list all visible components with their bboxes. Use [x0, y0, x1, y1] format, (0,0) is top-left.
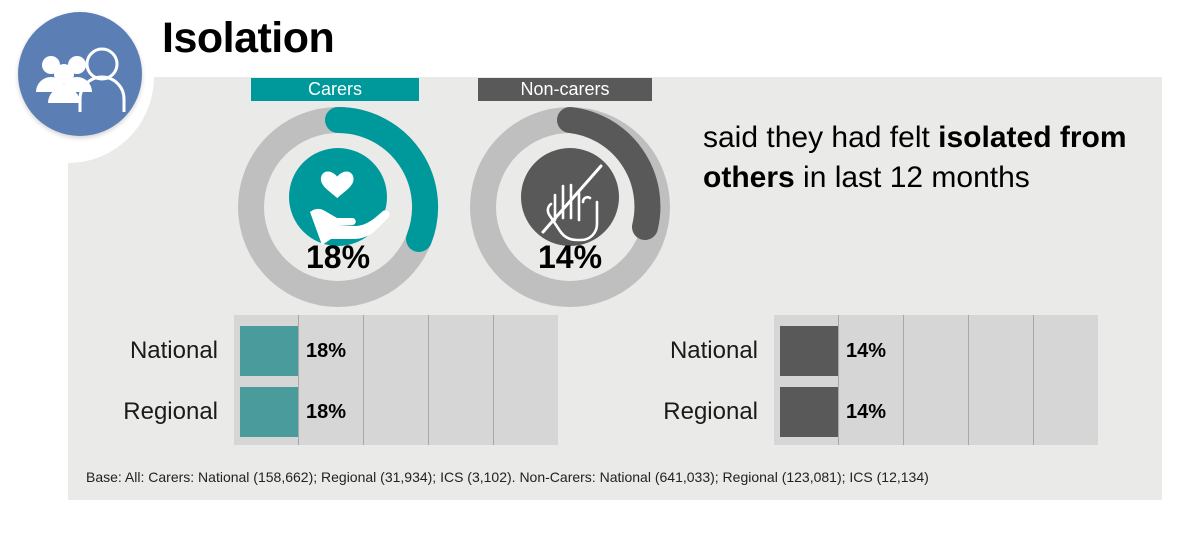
category-labels-carers: National Regional [108, 315, 226, 445]
gridline [903, 315, 904, 445]
category-label-regional: Regional [640, 398, 758, 426]
bar-value-national: 18% [306, 340, 346, 363]
plot-area-noncarers: 14% 14% [774, 315, 1098, 445]
people-group-icon [18, 12, 142, 136]
bar-value-regional: 18% [306, 401, 346, 424]
category-label-regional: Regional [100, 398, 218, 426]
gridline [838, 315, 839, 445]
statement-trail: in last 12 months [795, 161, 1030, 194]
gridline [363, 315, 364, 445]
donut-value-noncarers: 14% [460, 239, 680, 276]
base-footnote: Base: All: Carers: National (158,662); R… [86, 469, 929, 485]
bar-national [780, 326, 838, 376]
donut-chart-carers [228, 100, 448, 320]
bar-national [240, 326, 298, 376]
category-labels-noncarers: National Regional [648, 315, 766, 445]
group-label-noncarers: Non-carers [478, 78, 652, 101]
bar-value-national: 14% [846, 340, 886, 363]
gridline [493, 315, 494, 445]
gridline [968, 315, 969, 445]
bar-regional [240, 387, 298, 437]
bar-value-regional: 14% [846, 401, 886, 424]
bar-regional [780, 387, 838, 437]
category-label-national: National [640, 337, 758, 365]
gridline [428, 315, 429, 445]
statement-lead: said they had felt [703, 121, 938, 154]
gridline [1033, 315, 1034, 445]
gridline [298, 315, 299, 445]
page-title: Isolation [162, 14, 334, 63]
bar-chart-carers: National Regional 18% 18% [108, 315, 558, 445]
donut-chart-noncarers [460, 100, 680, 320]
statement-text: said they had felt isolated from others … [703, 118, 1133, 198]
bar-chart-noncarers: National Regional 14% 14% [648, 315, 1098, 445]
plot-area-carers: 18% 18% [234, 315, 558, 445]
group-label-carers: Carers [251, 78, 419, 101]
donut-value-carers: 18% [228, 239, 448, 276]
category-label-national: National [100, 337, 218, 365]
